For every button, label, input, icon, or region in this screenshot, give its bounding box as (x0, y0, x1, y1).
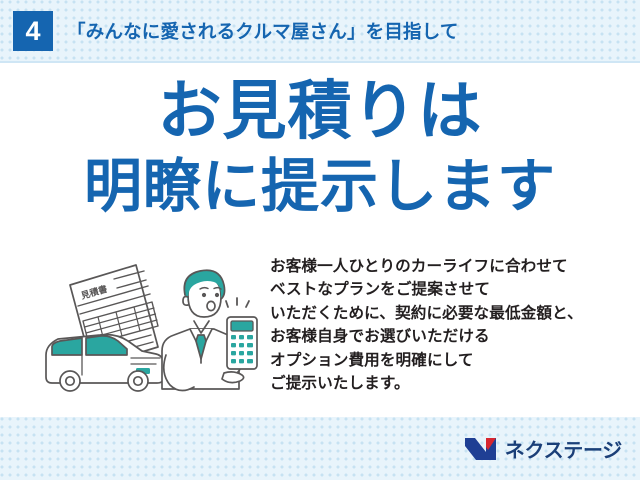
brand-name: ネクステージ (505, 434, 622, 463)
content-area: お見積りは 明瞭に提示します お客様一人ひとりのカーライフに合わせて ベストなプ… (0, 65, 640, 417)
headline: お見積りは 明瞭に提示します (0, 79, 640, 216)
header-title: 「みんなに愛されるクルマ屋さん」を目指して (67, 18, 459, 44)
body-copy: お客様一人ひとりのカーライフに合わせて ベストなプランをご提案させて いただくた… (270, 255, 640, 395)
calculator-icon (226, 298, 257, 369)
brand-logo: ネクステージ (464, 434, 622, 463)
header-band: 4 「みんなに愛されるクルマ屋さん」を目指して (0, 0, 640, 63)
illustration-salesman-quote-van: 見積書 (38, 255, 268, 415)
nextage-n-logo-icon (464, 436, 498, 462)
body-copy-line: お客様自身でお選びいただける (270, 325, 640, 348)
body-copy-line: いただくために、契約に必要な最低金額と、 (270, 302, 640, 325)
body-copy-line: お客様一人ひとりのカーライフに合わせて (270, 255, 640, 278)
body-copy-line: オプション費用を明確にして (270, 349, 640, 372)
promo-slide: 4 「みんなに愛されるクルマ屋さん」を目指して お見積りは 明瞭に提示します お… (0, 0, 640, 480)
footer-band: ネクステージ (0, 417, 640, 480)
headline-line-1: お見積りは (0, 79, 640, 143)
headline-line-2: 明瞭に提示します (0, 158, 640, 216)
section-number-badge: 4 (13, 11, 53, 51)
sparkle-icon (226, 298, 249, 307)
body-copy-line: ベストなプランをご提案させて (270, 278, 640, 301)
body-copy-line: ご提示いたします。 (270, 372, 640, 395)
